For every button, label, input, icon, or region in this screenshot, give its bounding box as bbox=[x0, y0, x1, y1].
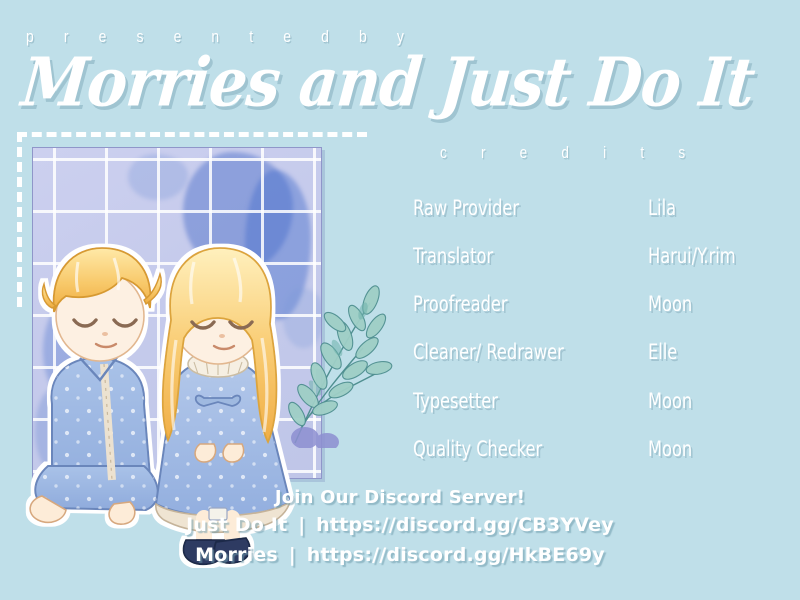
credit-row: Raw Provider Lila bbox=[413, 196, 793, 224]
credit-row: Typesetter Moon bbox=[413, 389, 793, 417]
credit-row: Quality Checker Moon bbox=[413, 437, 793, 465]
credit-value: Moon bbox=[648, 437, 692, 461]
credit-value: Moon bbox=[648, 389, 692, 413]
credit-label: Typesetter bbox=[413, 389, 498, 413]
discord-server-name: Just Do It bbox=[186, 514, 287, 536]
credit-value: Elle bbox=[648, 340, 677, 364]
discord-invite-url[interactable]: https://discord.gg/CB3YVey bbox=[316, 514, 614, 536]
discord-server-name: Morries bbox=[195, 544, 278, 566]
credit-value: Lila bbox=[648, 196, 676, 220]
credit-label: Translator bbox=[413, 244, 493, 268]
credits-page: p r e s e n t e d b y Morries and Just D… bbox=[0, 0, 800, 600]
credits-heading: c r e d i t s bbox=[440, 143, 700, 163]
credit-row: Cleaner/ Redrawer Elle bbox=[413, 340, 793, 368]
credit-row: Proofreader Moon bbox=[413, 292, 793, 320]
page-title: Morries and Just Do It bbox=[18, 43, 786, 124]
discord-link-row[interactable]: Morries | https://discord.gg/HkBE69y bbox=[0, 540, 800, 570]
credit-label: Proofreader bbox=[413, 292, 508, 316]
discord-footer: Join Our Discord Server! Just Do It | ht… bbox=[0, 486, 800, 570]
credit-value: Harui/Y.rim bbox=[648, 244, 736, 268]
credit-row: Translator Harui/Y.rim bbox=[413, 244, 793, 272]
discord-link-row[interactable]: Just Do It | https://discord.gg/CB3YVey bbox=[0, 510, 800, 540]
credit-label: Quality Checker bbox=[413, 437, 542, 461]
separator: | bbox=[285, 544, 300, 566]
credit-value: Moon bbox=[648, 292, 692, 316]
discord-invite-url[interactable]: https://discord.gg/HkBE69y bbox=[307, 544, 605, 566]
credit-label: Cleaner/ Redrawer bbox=[413, 340, 564, 364]
separator: | bbox=[294, 514, 309, 536]
credit-label: Raw Provider bbox=[413, 196, 519, 220]
discord-title: Join Our Discord Server! bbox=[0, 486, 800, 510]
